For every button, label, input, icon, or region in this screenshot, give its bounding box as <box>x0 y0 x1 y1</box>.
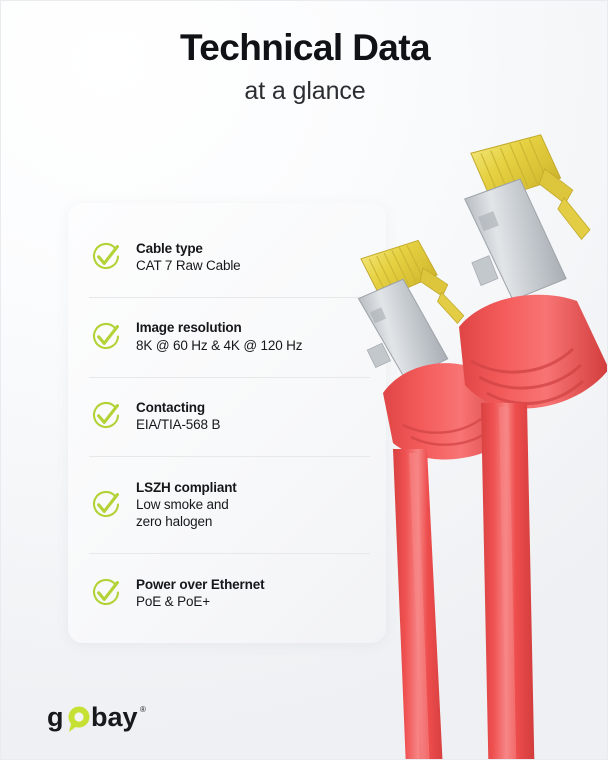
feature-text: LSZH compliant Low smoke and zero haloge… <box>136 479 237 531</box>
feature-desc: Low smoke and <box>136 496 237 513</box>
feature-title: Image resolution <box>136 319 302 336</box>
check-circle-icon <box>89 576 123 610</box>
infographic-page: Technical Data at a glance <box>0 0 608 760</box>
feature-title: Power over Ethernet <box>136 576 264 593</box>
feature-title: LSZH compliant <box>136 479 237 496</box>
feature-desc: EIA/TIA-568 B <box>136 416 220 433</box>
feature-title: Contacting <box>136 399 220 416</box>
logo-letters-bay: bay <box>91 702 138 732</box>
goobay-wordmark: g bay <box>47 701 139 740</box>
feature-text: Image resolution 8K @ 60 Hz & 4K @ 120 H… <box>136 319 302 354</box>
feature-title: Cable type <box>136 240 241 257</box>
feature-text: Cable type CAT 7 Raw Cable <box>136 240 241 275</box>
feature-desc: CAT 7 Raw Cable <box>136 257 241 274</box>
feature-desc: zero halogen <box>136 513 237 530</box>
feature-text: Contacting EIA/TIA-568 B <box>136 399 220 434</box>
logo-bubble-o <box>69 707 90 733</box>
check-circle-icon <box>89 240 123 274</box>
header: Technical Data at a glance <box>1 27 608 106</box>
goobay-logo: g bay ® <box>47 701 146 740</box>
feature-desc: PoE & PoE+ <box>136 593 264 610</box>
feature-row-cable-type: Cable type CAT 7 Raw Cable <box>68 217 386 297</box>
feature-list: Cable type CAT 7 Raw Cable Image resolut… <box>68 217 386 633</box>
page-subtitle: at a glance <box>1 78 608 106</box>
feature-desc: 8K @ 60 Hz & 4K @ 120 Hz <box>136 337 302 354</box>
registered-trademark-icon: ® <box>140 705 146 714</box>
technical-data-card: Cable type CAT 7 Raw Cable Image resolut… <box>68 203 386 643</box>
feature-row-power-over-ethernet: Power over Ethernet PoE & PoE+ <box>68 553 386 633</box>
check-circle-icon <box>89 320 123 354</box>
check-circle-icon <box>89 488 123 522</box>
feature-text: Power over Ethernet PoE & PoE+ <box>136 576 264 611</box>
feature-row-lszh-compliant: LSZH compliant Low smoke and zero haloge… <box>68 456 386 553</box>
check-circle-icon <box>89 399 123 433</box>
feature-row-contacting: Contacting EIA/TIA-568 B <box>68 377 386 457</box>
page-title: Technical Data <box>1 27 608 68</box>
logo-letter-g: g <box>47 702 64 732</box>
feature-row-image-resolution: Image resolution 8K @ 60 Hz & 4K @ 120 H… <box>68 297 386 377</box>
